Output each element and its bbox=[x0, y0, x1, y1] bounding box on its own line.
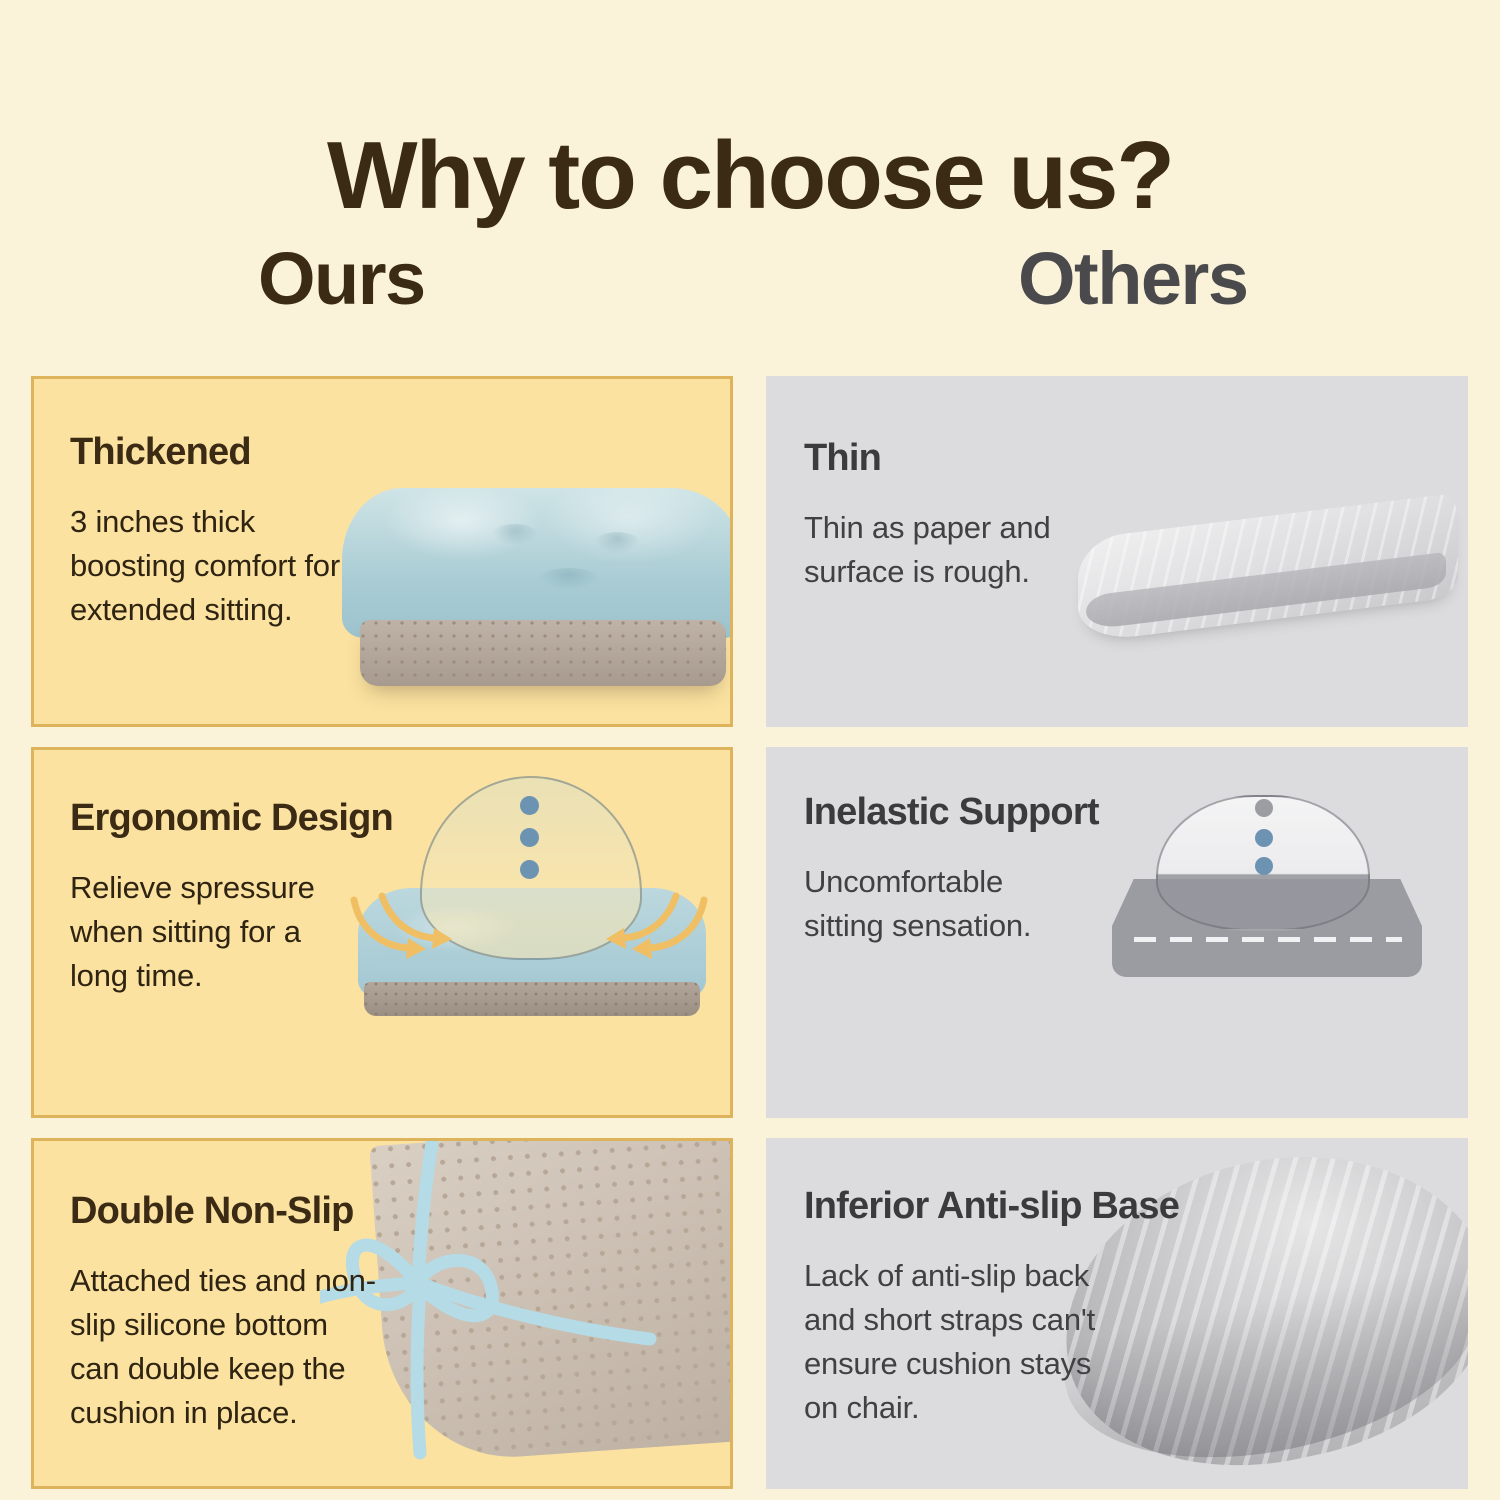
card-others-thin: Thin Thin as paper and surface is rough. bbox=[766, 376, 1468, 727]
card-others-inferior-anti-slip-base: Inferior Anti-slip Base Lack of anti-sli… bbox=[766, 1138, 1468, 1489]
card-title: Thin bbox=[804, 438, 1084, 480]
card-text-block: Thickened 3 inches thick boosting comfor… bbox=[70, 432, 370, 632]
comparison-infographic: Why to choose us? Ours Others Thickened … bbox=[0, 0, 1500, 1500]
card-title: Inferior Anti-slip Base bbox=[804, 1186, 1179, 1228]
tie-bow-icon bbox=[320, 1138, 733, 1489]
thin-gray-pad-image bbox=[1078, 494, 1458, 644]
pressure-dot-icon bbox=[520, 828, 539, 847]
column-heading-others: Others bbox=[1018, 242, 1248, 316]
card-ours-thickened: Thickened 3 inches thick boosting comfor… bbox=[31, 376, 733, 727]
card-text-block: Thin Thin as paper and surface is rough. bbox=[804, 438, 1084, 594]
card-title: Inelastic Support bbox=[804, 792, 1099, 834]
pressure-dot-icon bbox=[1255, 799, 1273, 817]
card-body: Attached ties and non-slip silicone bott… bbox=[70, 1259, 380, 1435]
comparison-grid: Thickened 3 inches thick boosting comfor… bbox=[31, 376, 1468, 1469]
pressure-dot-icon bbox=[1255, 857, 1273, 875]
dashed-line-icon bbox=[1134, 937, 1402, 942]
column-heading-ours: Ours bbox=[258, 242, 425, 316]
card-title: Double Non-Slip bbox=[70, 1191, 380, 1233]
card-body: 3 inches thick boosting comfort for exte… bbox=[70, 500, 370, 632]
card-text-block: Inelastic Support Uncomfortable sitting … bbox=[804, 792, 1099, 948]
card-ours-ergonomic-design: Ergonomic Design Relieve spressure when … bbox=[31, 747, 733, 1118]
card-body: Uncomfortable sitting sensation. bbox=[804, 860, 1064, 948]
card-text-block: Double Non-Slip Attached ties and non-sl… bbox=[70, 1191, 380, 1435]
card-text-block: Inferior Anti-slip Base Lack of anti-sli… bbox=[804, 1186, 1179, 1430]
card-body: Thin as paper and surface is rough. bbox=[804, 506, 1084, 594]
card-title: Ergonomic Design bbox=[70, 798, 393, 840]
flat-gray-cushion-diagram-image bbox=[1112, 787, 1442, 1017]
pressure-dot-icon bbox=[1255, 829, 1273, 847]
page-title: Why to choose us? bbox=[0, 126, 1500, 227]
pressure-dot-icon bbox=[520, 796, 539, 815]
pressure-dot-icon bbox=[520, 860, 539, 879]
card-body: Lack of anti-slip back and short straps … bbox=[804, 1254, 1124, 1430]
card-ours-double-non-slip: Double Non-Slip Attached ties and non-sl… bbox=[31, 1138, 733, 1489]
thick-blue-cushion-image bbox=[342, 471, 733, 686]
card-title: Thickened bbox=[70, 432, 370, 474]
silicone-base-with-tie-image bbox=[320, 1138, 733, 1489]
card-body: Relieve spressure when sitting for a lon… bbox=[70, 866, 340, 998]
card-others-inelastic-support: Inelastic Support Uncomfortable sitting … bbox=[766, 747, 1468, 1118]
card-text-block: Ergonomic Design Relieve spressure when … bbox=[70, 798, 393, 998]
